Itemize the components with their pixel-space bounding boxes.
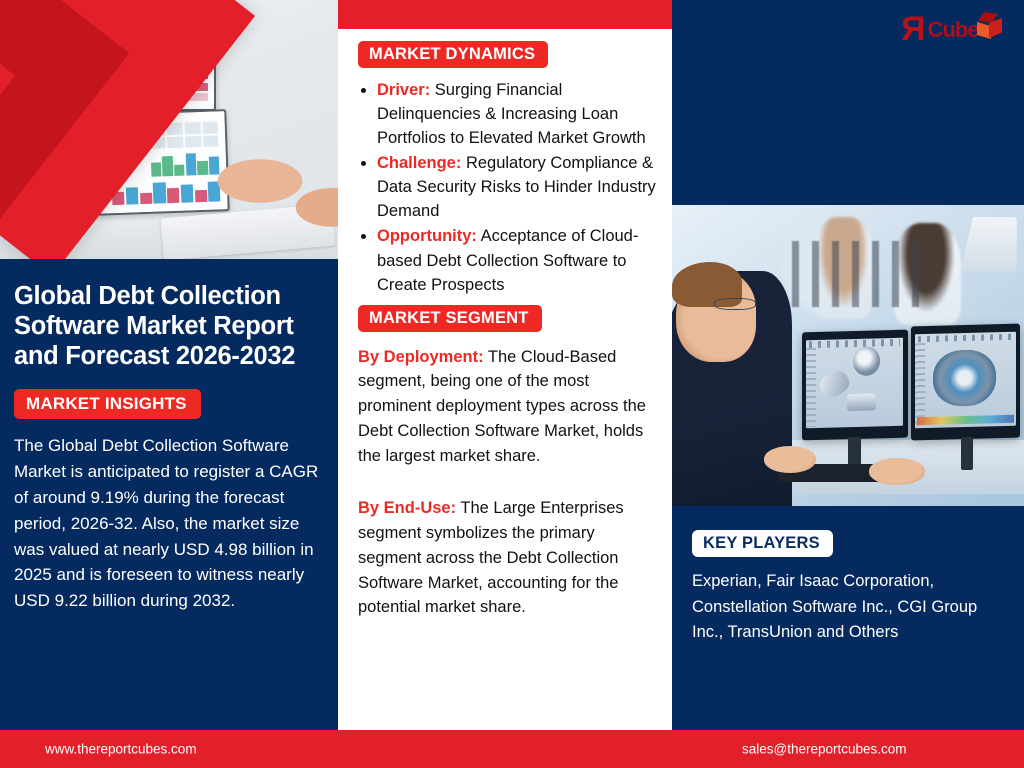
lab-lamp	[961, 217, 1017, 271]
reversed-r-icon: R	[902, 14, 926, 45]
dynamics-item-driver: Driver: Surging Financial Delinquencies …	[377, 78, 656, 150]
footer-email[interactable]: sales@thereportcubes.com	[742, 742, 907, 757]
market-dynamics-list: Driver: Surging Financial Delinquencies …	[358, 78, 656, 297]
infographic-canvas: Global Debt Collection Software Market R…	[0, 0, 1024, 768]
driver-label: Driver:	[377, 81, 430, 99]
market-insights-badge: MARKET INSIGHTS	[14, 389, 201, 419]
left-content: Global Debt Collection Software Market R…	[0, 259, 338, 614]
right-column: R Cube	[672, 0, 1024, 730]
dynamics-item-opportunity: Opportunity: Acceptance of Cloud-based D…	[377, 224, 656, 296]
glasses-icon	[714, 298, 756, 310]
by-end-use-label: By End-Use:	[358, 499, 456, 517]
equipment-rack	[792, 241, 933, 307]
market-dynamics-badge: MARKET DYNAMICS	[358, 41, 548, 68]
cad-monitor-left	[802, 330, 908, 441]
market-segment-badge: MARKET SEGMENT	[358, 305, 542, 332]
logo-cube-text: Cube	[928, 17, 979, 45]
center-content: MARKET DYNAMICS Driver: Surging Financia…	[338, 29, 672, 620]
center-top-red-band	[338, 0, 672, 29]
dynamics-item-challenge: Challenge: Regulatory Compliance & Data …	[377, 151, 656, 223]
by-deployment-label: By Deployment:	[358, 348, 484, 366]
left-column: Global Debt Collection Software Market R…	[0, 0, 338, 730]
cube-icon	[974, 12, 1004, 42]
market-segment-section: MARKET SEGMENT By Deployment: The Cloud-…	[358, 305, 656, 621]
typing-hands	[148, 145, 338, 259]
key-players-badge: KEY PLAYERS	[692, 530, 833, 557]
footer-website[interactable]: www.thereportcubes.com	[45, 742, 197, 757]
key-players-text: Experian, Fair Isaac Corporation, Conste…	[692, 569, 1006, 646]
center-column: MARKET DYNAMICS Driver: Surging Financia…	[338, 0, 672, 730]
challenge-label: Challenge:	[377, 154, 461, 172]
brand-logo: R Cube	[902, 8, 1006, 54]
analytics-photo	[0, 0, 338, 259]
segment-by-end-use: By End-Use: The Large Enterprises segmen…	[358, 496, 656, 620]
engineer-lab-photo	[672, 205, 1024, 506]
market-insights-text: The Global Debt Collection Software Mark…	[14, 433, 322, 614]
footer-bar: www.thereportcubes.com sales@thereportcu…	[0, 730, 1024, 768]
cad-monitor-right	[911, 324, 1020, 441]
page-title: Global Debt Collection Software Market R…	[14, 281, 322, 371]
logo-wordmark: R Cube	[902, 14, 979, 45]
key-players-section: KEY PLAYERS Experian, Fair Isaac Corpora…	[672, 506, 1024, 646]
opportunity-label: Opportunity:	[377, 227, 477, 245]
segment-by-deployment: By Deployment: The Cloud-Based segment, …	[358, 345, 656, 469]
